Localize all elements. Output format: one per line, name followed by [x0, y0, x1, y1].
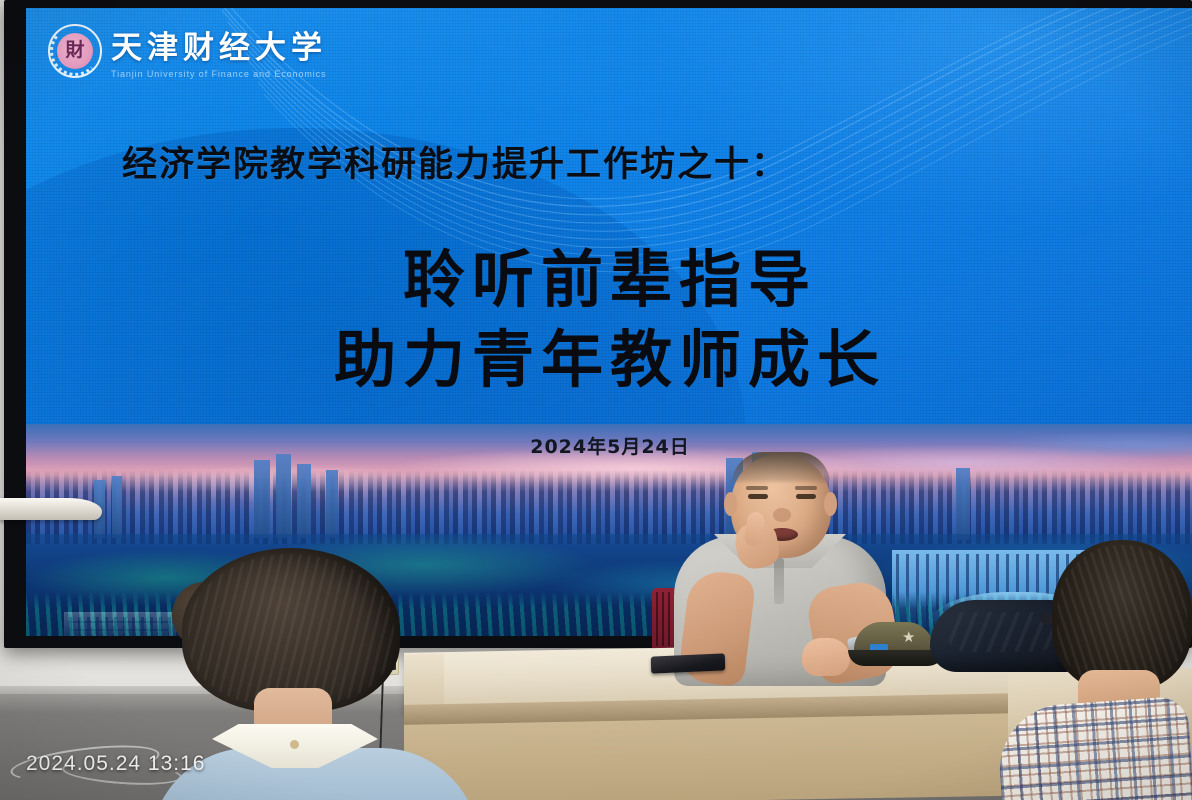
- cap-brim: [848, 650, 944, 666]
- star-icon: ★: [902, 630, 915, 645]
- skyline-tower: [956, 468, 970, 540]
- skyline-tower: [297, 464, 311, 538]
- slide-date: 2024年5月24日: [26, 432, 1192, 459]
- distant-skyline: [26, 470, 1192, 544]
- speaker-eye: [796, 494, 816, 499]
- slide-title-line-1: 聆听前辈指导: [403, 243, 817, 316]
- audience-member-right: [1000, 540, 1192, 800]
- university-logo: 財 天津财经大学 Tianjin University of Finance a…: [48, 22, 327, 79]
- speaker-nose: [773, 508, 791, 522]
- slide-subtitle: 经济学院教学科研能力提升工作坊之十：: [122, 136, 788, 187]
- speaker-ear: [824, 492, 837, 516]
- audience-left-collar-button: [290, 740, 299, 749]
- crest-glyph: 財: [65, 41, 84, 60]
- skyline-tower: [112, 476, 122, 538]
- audience-right-hair: [1052, 540, 1192, 690]
- university-crest-icon: 財: [48, 24, 102, 78]
- university-name-cn: 天津财经大学: [111, 22, 327, 67]
- camera-timestamp: 2024.05.24 13:16: [26, 752, 206, 776]
- slide-title-line-2: 助力青年教师成长: [26, 320, 1192, 400]
- skyline-tower: [326, 470, 338, 538]
- slide-title: 聆听前辈指导 助力青年教师成长: [26, 240, 1192, 400]
- audience-right-plaid-shirt: [995, 695, 1192, 800]
- speaker-hair: [732, 452, 830, 484]
- speaker-eyebrow: [795, 486, 817, 490]
- speaker-eyebrow: [746, 486, 768, 490]
- speaker-right-hand: [802, 638, 850, 676]
- speaker-eye: [748, 494, 768, 499]
- speaker-placket: [774, 558, 784, 604]
- photograph-scene: 財 天津财经大学 Tianjin University of Finance a…: [0, 0, 1192, 800]
- skyline-tower: [254, 460, 270, 538]
- university-name-en: Tianjin University of Finance and Econom…: [111, 69, 327, 79]
- speaker-ear: [724, 492, 737, 516]
- skyline-tower: [276, 454, 291, 538]
- smartphone-on-desk[interactable]: [651, 653, 725, 673]
- wall-shelf: [0, 498, 102, 520]
